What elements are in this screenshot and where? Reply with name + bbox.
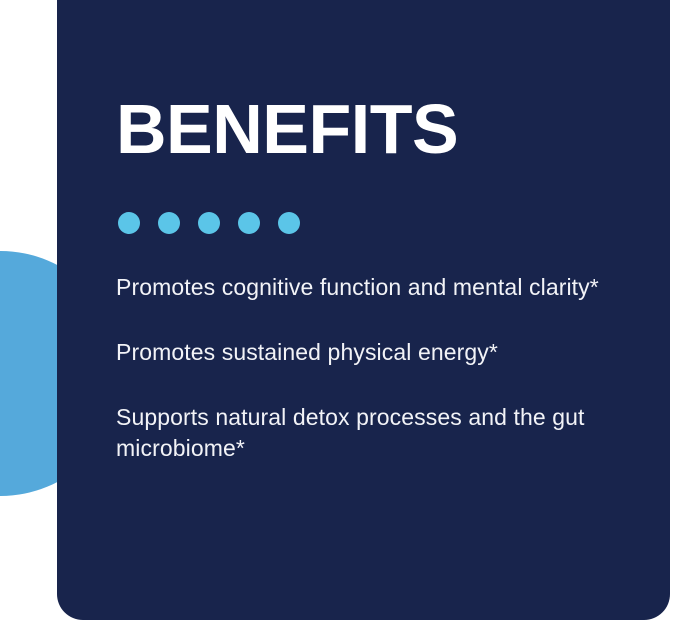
decorative-dot-icon	[158, 212, 180, 234]
decorative-dot-row	[118, 212, 300, 234]
benefit-list: Promotes cognitive function and mental c…	[116, 272, 634, 464]
list-item: Supports natural detox processes and the…	[116, 402, 634, 464]
decorative-dot-icon	[118, 212, 140, 234]
benefits-card-content: BENEFITS Promotes cognitive function and…	[116, 0, 644, 620]
decorative-dot-icon	[198, 212, 220, 234]
benefits-card: BENEFITS Promotes cognitive function and…	[57, 0, 670, 620]
decorative-dot-icon	[278, 212, 300, 234]
decorative-dot-icon	[238, 212, 260, 234]
list-item: Promotes cognitive function and mental c…	[116, 272, 634, 303]
list-item: Promotes sustained physical energy*	[116, 337, 634, 368]
page-title: BENEFITS	[116, 94, 458, 164]
benefits-panel: BENEFITS Promotes cognitive function and…	[0, 0, 691, 638]
